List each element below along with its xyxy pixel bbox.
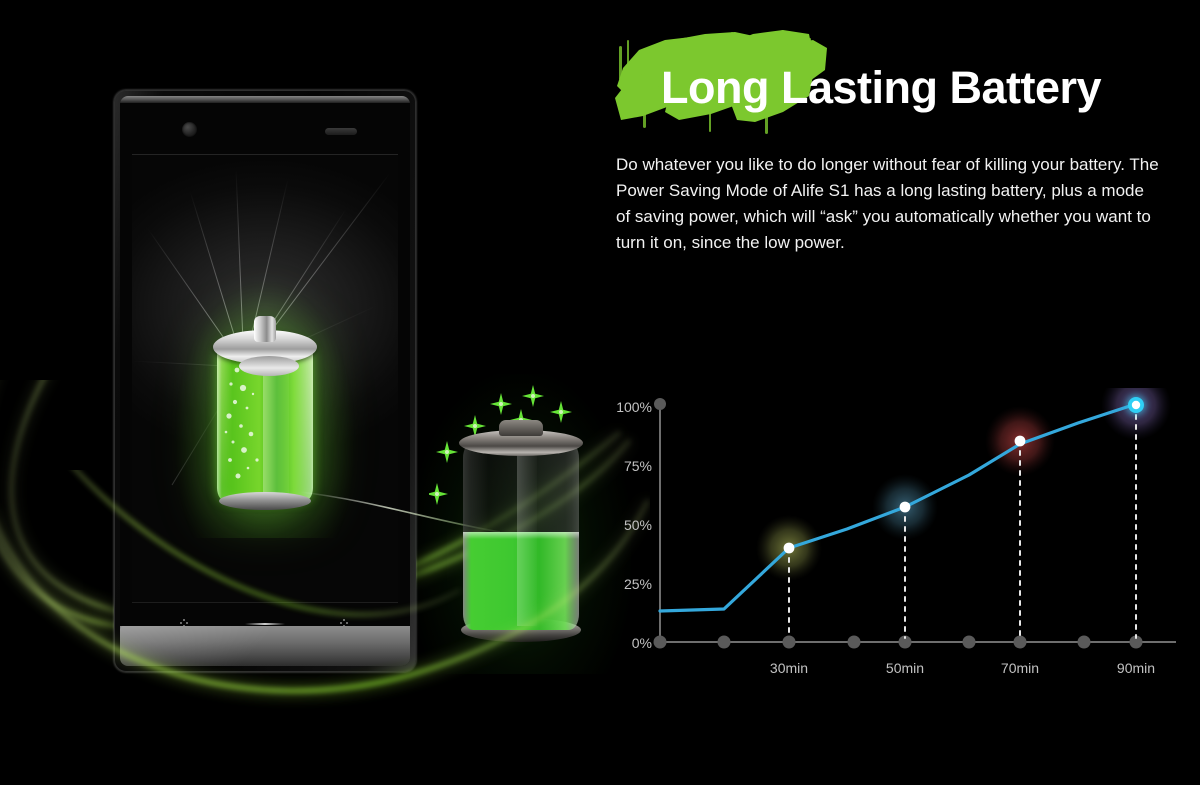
droplines [789, 405, 1136, 638]
x-tick-label-70min: 70min [990, 660, 1050, 676]
battery-base [219, 492, 311, 510]
y-tick-label-25: 25% [610, 576, 652, 592]
page-title: Long Lasting Battery [661, 62, 1101, 114]
glass-battery-highlight [517, 446, 537, 626]
device-visual-area [0, 0, 620, 785]
charging-battery-icon [457, 418, 585, 660]
chart-canvas [610, 388, 1190, 678]
y-tick-label-75: 75% [610, 458, 652, 474]
battery-feature-slide: Long Lasting Battery Do whatever you lik… [0, 0, 1200, 785]
battery-cap-ring [239, 356, 299, 376]
y-tick-label-50: 50% [610, 517, 652, 533]
title-block: Long Lasting Battery [613, 28, 1173, 136]
data-point-50min [900, 502, 911, 513]
earpiece-speaker-icon [325, 128, 357, 135]
y-axis-cap-dot [654, 398, 666, 410]
x-tick-label-90min: 90min [1106, 660, 1166, 676]
y-tick-label-0: 0% [610, 635, 652, 651]
x-tick-label-50min: 50min [875, 660, 935, 676]
data-point-30min [784, 543, 795, 554]
data-point-90min [1126, 395, 1146, 415]
battery-terminal-nub [254, 316, 276, 342]
front-camera-icon [182, 122, 197, 137]
battery-charge-chart: 100% 75% 50% 25% 0% 30min 50min 70min 90… [610, 388, 1190, 678]
glass-battery-tube [463, 442, 579, 630]
y-tick-label-100: 100% [610, 399, 652, 415]
home-bar-icon[interactable] [245, 623, 285, 625]
glass-battery-terminal [499, 420, 543, 436]
phone-bottom-chin [120, 626, 410, 666]
description-paragraph: Do whatever you like to do longer withou… [616, 152, 1161, 256]
content-panel: Long Lasting Battery Do whatever you lik… [605, 0, 1200, 785]
phone-top-trim [120, 96, 410, 103]
x-tick-label-30min: 30min [759, 660, 819, 676]
data-point-70min [1015, 436, 1026, 447]
